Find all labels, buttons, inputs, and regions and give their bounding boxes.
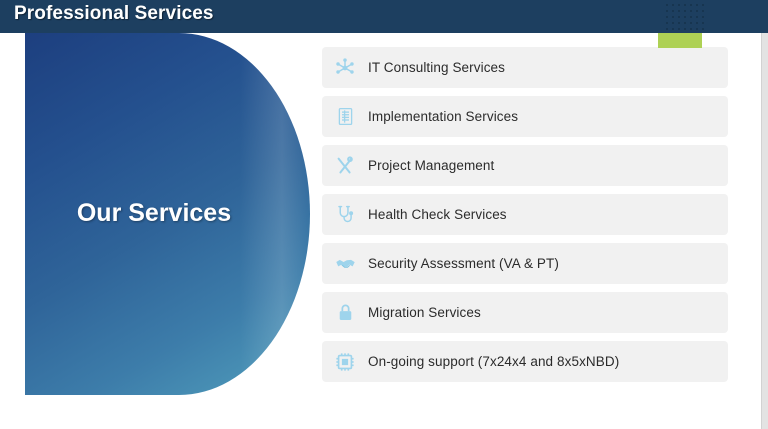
list-item-label: IT Consulting Services [368, 60, 505, 75]
document-list-icon [322, 96, 368, 137]
list-item-label: Project Management [368, 158, 494, 173]
page-title: Professional Services [14, 3, 214, 25]
tools-cross-icon [322, 145, 368, 186]
stethoscope-icon [322, 194, 368, 235]
list-item-label: Security Assessment (VA & PT) [368, 256, 559, 271]
list-item[interactable]: Project Management [322, 145, 728, 186]
left-title-panel: Our Services [25, 33, 310, 395]
page-edge-strip [761, 0, 768, 429]
list-item-label: Health Check Services [368, 207, 507, 222]
chip-icon [322, 341, 368, 382]
list-item[interactable]: Implementation Services [322, 96, 728, 137]
list-item[interactable]: Security Assessment (VA & PT) [322, 243, 728, 284]
list-item[interactable]: On-going support (7x24x4 and 8x5xNBD) [322, 341, 728, 382]
list-item[interactable]: Migration Services [322, 292, 728, 333]
services-list: IT Consulting Services Implementation Se… [322, 47, 728, 390]
list-item-label: On-going support (7x24x4 and 8x5xNBD) [368, 354, 619, 369]
list-item[interactable]: IT Consulting Services [322, 47, 728, 88]
dot-grid-pattern-icon [664, 2, 706, 33]
header-bar: Professional Services [0, 0, 768, 33]
lock-icon [322, 292, 368, 333]
list-item-label: Implementation Services [368, 109, 518, 124]
list-item-label: Migration Services [368, 305, 481, 320]
handshake-icon [322, 243, 368, 284]
left-panel-heading: Our Services [25, 199, 283, 228]
list-item[interactable]: Health Check Services [322, 194, 728, 235]
network-hub-icon [322, 47, 368, 88]
slide-canvas: Professional Services Our Services [0, 0, 768, 429]
